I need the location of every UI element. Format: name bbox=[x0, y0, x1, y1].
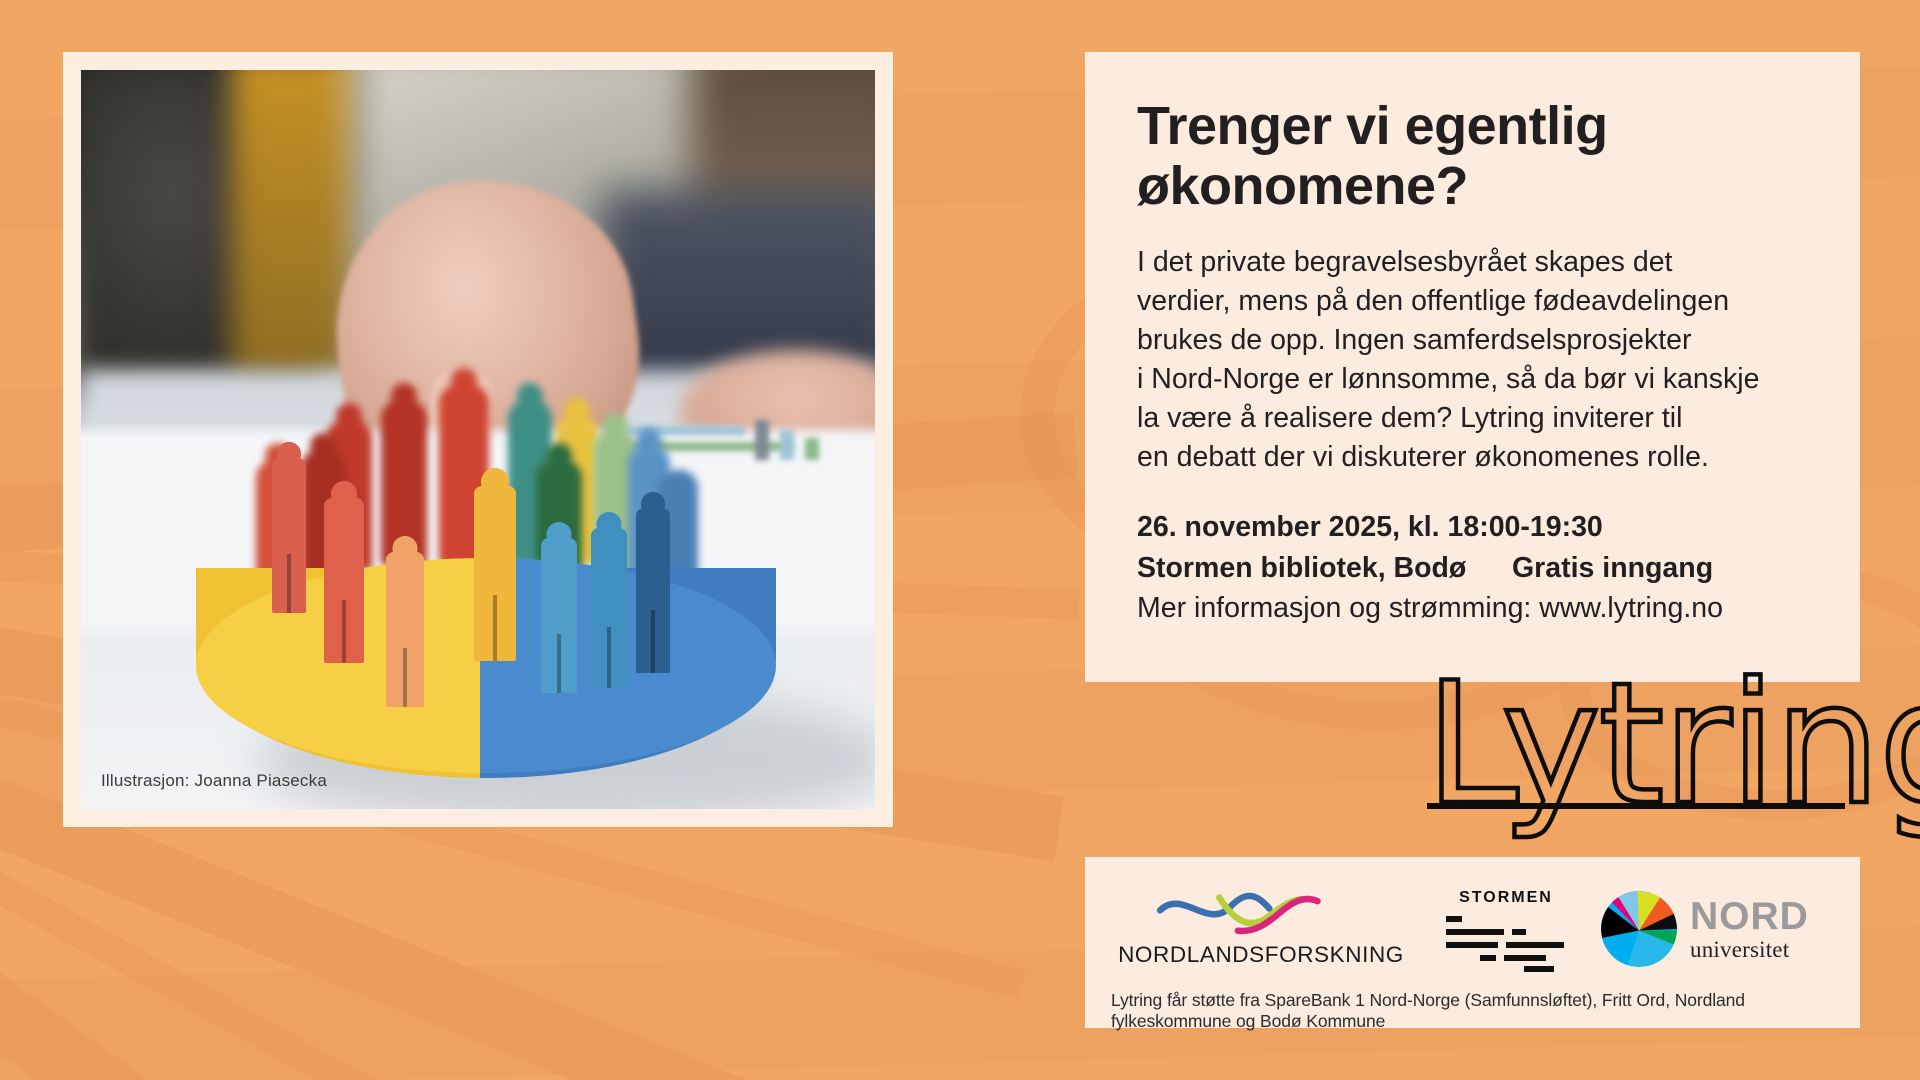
photo-caption: Illustrasjon: Joanna Piasecka bbox=[101, 771, 327, 791]
lytring-logo: Lytring bbox=[1425, 680, 1865, 835]
sponsor-card: NORDLANDSFORSKNING STORMEN bbox=[1085, 857, 1860, 1028]
illustration-photo: Illustrasjon: Joanna Piasecka bbox=[81, 70, 875, 809]
event-datetime: 26. november 2025, kl. 18:00-19:30 bbox=[1137, 507, 1808, 547]
description-line: brukes de opp. Ingen samferdselsprosjekt… bbox=[1137, 321, 1808, 360]
sponsor-logos: NORDLANDSFORSKNING STORMEN bbox=[1111, 877, 1834, 981]
lytring-wordmark: Lytring bbox=[1425, 646, 1920, 842]
nordlandsforskning-name: NORDLANDSFORSKNING bbox=[1111, 942, 1411, 968]
nord-universitet-logo: NORD universitet bbox=[1601, 891, 1809, 967]
description-line: en debatt der vi diskuterer økonomenes r… bbox=[1137, 438, 1808, 477]
description-line: i Nord-Norge er lønnsomme, så da bør vi … bbox=[1137, 360, 1808, 399]
nord-emblem-icon bbox=[1601, 891, 1677, 967]
stormen-logo: STORMEN bbox=[1411, 889, 1601, 970]
nord-name-secondary: universitet bbox=[1690, 938, 1809, 961]
title-line-2: økonomene? bbox=[1137, 156, 1468, 216]
description-line: verdier, mens på den offentlige fødeavde… bbox=[1137, 282, 1808, 321]
title-line-1: Trenger vi egentlig bbox=[1137, 96, 1608, 156]
photo-card: Illustrasjon: Joanna Piasecka bbox=[63, 52, 893, 827]
event-description: I det private begravelsesbyrået skapes d… bbox=[1137, 243, 1808, 477]
event-text-card: Trenger vi egentlig økonomene? I det pri… bbox=[1085, 52, 1860, 682]
pie-chart-disc bbox=[196, 480, 776, 809]
stormen-bars-icon bbox=[1446, 914, 1566, 970]
description-line: I det private begravelsesbyrået skapes d… bbox=[1137, 243, 1808, 282]
nordlandsforskning-swoosh-icon bbox=[1111, 890, 1411, 940]
event-more-info: Mer informasjon og strømming: www.lytrin… bbox=[1137, 588, 1808, 628]
event-details: 26. november 2025, kl. 18:00-19:30 Storm… bbox=[1137, 507, 1808, 628]
nordlandsforskning-logo: NORDLANDSFORSKNING bbox=[1111, 890, 1411, 968]
description-line: la være å realisere dem? Lytring inviter… bbox=[1137, 399, 1808, 438]
venue-row: Stormen bibliotek, Bodø Gratis inngang bbox=[1137, 548, 1808, 588]
stormen-name: STORMEN bbox=[1411, 889, 1601, 907]
nord-name-primary: NORD bbox=[1690, 897, 1809, 936]
event-admission: Gratis inngang bbox=[1512, 548, 1713, 588]
sponsor-fineprint: Lytring får støtte fra SpareBank 1 Nord-… bbox=[1111, 990, 1834, 1032]
page-title: Trenger vi egentlig økonomene? bbox=[1137, 96, 1808, 217]
event-venue: Stormen bibliotek, Bodø bbox=[1137, 548, 1512, 588]
